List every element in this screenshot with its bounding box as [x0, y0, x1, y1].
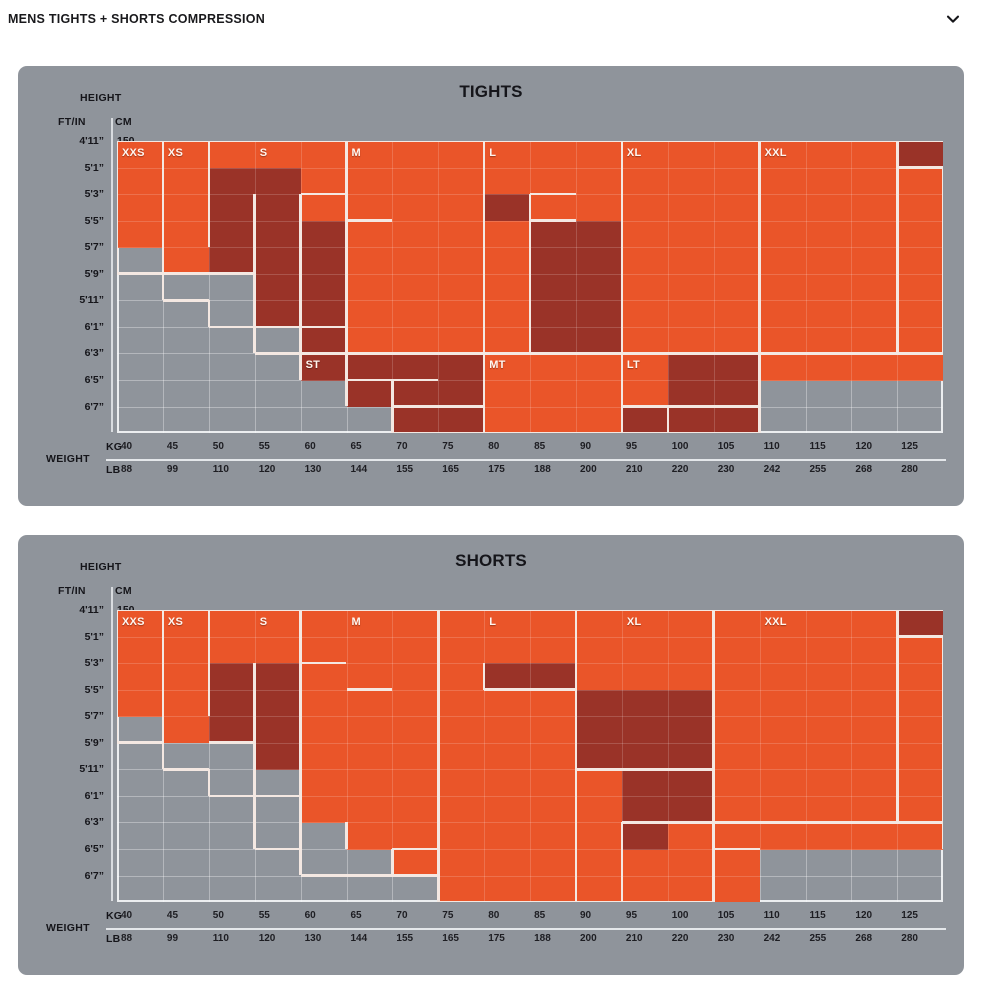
size-cell-regular — [760, 637, 807, 664]
region-outline — [437, 610, 440, 902]
size-grid-tights: XXSXSSMLXLXXLSTMTLT — [117, 141, 943, 433]
region-outline — [621, 141, 624, 353]
weight-kg-value: 120 — [855, 441, 872, 452]
size-cell-tall — [255, 274, 302, 301]
size-cell-regular — [530, 194, 577, 221]
size-cell-regular — [851, 300, 898, 327]
size-cell-regular — [714, 690, 761, 717]
weight-kg-value: 70 — [396, 910, 407, 921]
size-cell-regular — [576, 822, 623, 849]
size-cell-regular — [851, 353, 898, 380]
size-cell-regular — [117, 637, 164, 664]
size-cell-tall — [622, 743, 669, 770]
region-outline — [117, 610, 118, 743]
size-cell-regular — [530, 716, 577, 743]
region-outline — [301, 326, 347, 329]
gridline-horizontal-overlay — [117, 637, 943, 638]
weight-kg-value: 95 — [626, 441, 637, 452]
region-outline — [392, 848, 438, 851]
size-cell-tall — [209, 194, 256, 221]
lb-row-header: LB — [106, 933, 120, 945]
weight-lb-value: 255 — [810, 933, 827, 944]
region-outline — [345, 822, 348, 849]
height-ftin-label: 6'5” — [18, 367, 104, 393]
weight-lb-value: 110 — [213, 464, 229, 475]
region-outline — [758, 353, 761, 433]
region-outline — [622, 432, 760, 433]
height-ftin-label: 6'3” — [18, 809, 104, 835]
region-outline — [622, 821, 714, 824]
region-outline — [896, 610, 899, 637]
weight-lb-value: 120 — [259, 933, 276, 944]
size-cell-regular — [760, 796, 807, 823]
weight-lb-value: 200 — [580, 464, 597, 475]
size-cell-regular — [530, 743, 577, 770]
size-cell-regular — [851, 663, 898, 690]
size-cell-tall — [668, 716, 715, 743]
size-cell-regular — [806, 690, 853, 717]
region-outline — [942, 637, 943, 849]
gridline-horizontal-overlay — [117, 168, 943, 169]
weight-lb-value: 165 — [442, 464, 459, 475]
size-cell-regular — [897, 716, 943, 743]
size-cell-regular — [392, 690, 439, 717]
weight-kg-value: 55 — [259, 910, 270, 921]
gridline-horizontal-overlay — [117, 849, 943, 850]
size-cell-regular — [806, 769, 853, 796]
weight-kg-value: 40 — [121, 910, 132, 921]
weight-kg-value: 100 — [672, 910, 689, 921]
size-cell-regular — [714, 221, 761, 248]
size-cell-regular — [714, 194, 761, 221]
size-cell-regular — [806, 274, 853, 301]
size-cell-regular — [209, 610, 256, 637]
size-cell-regular — [438, 690, 485, 717]
region-outline — [896, 637, 899, 823]
weight-kg-value: 120 — [855, 910, 872, 921]
weight-lb-value: 230 — [718, 933, 735, 944]
size-cell-regular — [622, 380, 669, 407]
size-cell-regular — [438, 876, 485, 903]
size-cell-regular — [806, 796, 853, 823]
size-cell-regular — [851, 716, 898, 743]
kg-row-header: KG — [106, 910, 122, 922]
size-label-st: ST — [306, 359, 321, 371]
accordion-header[interactable]: MENS TIGHTS + SHORTS COMPRESSION — [0, 0, 982, 38]
size-cell-regular — [484, 769, 531, 796]
region-outline — [897, 635, 943, 638]
size-label-mt: MT — [489, 359, 505, 371]
size-cell-tall — [530, 274, 577, 301]
size-cell-regular — [301, 194, 348, 221]
size-cell-regular — [806, 247, 853, 274]
size-cell-regular — [897, 300, 943, 327]
weight-kg-value: 90 — [580, 910, 591, 921]
gridline-vertical-overlay — [806, 610, 807, 902]
height-ftin-label: 5'5” — [18, 208, 104, 234]
size-cell-regular — [484, 221, 531, 248]
size-cell-regular — [392, 663, 439, 690]
size-cell-regular — [851, 796, 898, 823]
size-cell-regular — [484, 247, 531, 274]
weight-lb-value: 175 — [488, 464, 505, 475]
size-cell-regular — [806, 353, 853, 380]
size-cell-regular — [714, 743, 761, 770]
region-outline — [253, 194, 256, 327]
weight-kg-value: 85 — [534, 441, 545, 452]
region-outline — [437, 876, 440, 903]
size-cell-regular — [668, 274, 715, 301]
weight-lb-value: 155 — [396, 933, 413, 944]
height-ftin-label: 5'3” — [18, 650, 104, 676]
height-ftin-label: 5'9” — [18, 261, 104, 287]
weight-kg-value: 85 — [534, 910, 545, 921]
size-cell-regular — [897, 194, 943, 221]
region-outline — [208, 610, 211, 716]
region-outline — [299, 194, 302, 353]
size-cell-regular — [714, 274, 761, 301]
size-cell-regular — [484, 327, 531, 354]
height-axis-divider — [111, 587, 113, 901]
size-cell-regular — [438, 769, 485, 796]
size-cell-tall — [484, 194, 531, 221]
region-outline — [529, 194, 532, 353]
size-cell-regular — [301, 716, 348, 743]
size-cell-tall — [255, 247, 302, 274]
size-cell-tall — [484, 663, 531, 690]
size-cell-regular — [163, 247, 210, 274]
size-cell-regular — [576, 849, 623, 876]
gridline-horizontal-overlay — [117, 663, 943, 664]
weight-lb-value: 130 — [305, 464, 322, 475]
size-cell-tall — [576, 300, 623, 327]
region-outline — [117, 141, 943, 142]
size-cell-tall — [209, 663, 256, 690]
region-outline — [209, 741, 255, 744]
region-outline — [575, 663, 578, 822]
size-cell-regular — [392, 141, 439, 168]
size-cell-regular — [347, 221, 394, 248]
size-cell-regular — [347, 769, 394, 796]
chevron-down-icon[interactable] — [942, 8, 964, 30]
region-outline — [345, 353, 348, 406]
weight-kg-value: 110 — [764, 910, 780, 921]
size-cell-regular — [392, 849, 439, 876]
size-cell-regular — [897, 637, 943, 664]
size-cell-regular — [576, 663, 623, 690]
size-cell-regular — [897, 769, 943, 796]
size-cell-tall — [576, 247, 623, 274]
size-cell-regular — [392, 247, 439, 274]
size-cell-regular — [484, 380, 531, 407]
size-cell-regular — [668, 247, 715, 274]
size-cell-regular — [438, 743, 485, 770]
size-label-lt: LT — [627, 359, 640, 371]
size-cell-regular — [760, 221, 807, 248]
region-outline — [117, 272, 163, 275]
size-cell-regular — [714, 610, 761, 637]
weight-kg-value: 115 — [810, 910, 826, 921]
size-cell-regular — [438, 327, 485, 354]
size-cell-regular — [806, 221, 853, 248]
height-ftin-label: 5'7” — [18, 703, 104, 729]
size-cell-regular — [622, 849, 669, 876]
size-cell-tall — [255, 168, 302, 195]
size-cell-tall — [714, 353, 761, 380]
size-cell-regular — [438, 822, 485, 849]
size-cell-tall — [301, 327, 348, 354]
size-cell-tall — [530, 663, 577, 690]
size-cell-regular — [484, 743, 531, 770]
region-outline — [622, 405, 760, 408]
size-cell-tall — [576, 274, 623, 301]
weight-kg-value: 115 — [810, 441, 826, 452]
size-cell-regular — [392, 637, 439, 664]
size-cell-tall — [622, 822, 669, 849]
size-cell-regular — [714, 663, 761, 690]
ftin-column-header: FT/IN — [58, 116, 86, 128]
size-cell-tall — [530, 247, 577, 274]
weight-lb-value: 175 — [488, 933, 505, 944]
size-cell-regular — [484, 300, 531, 327]
size-cell-regular — [806, 637, 853, 664]
region-outline — [530, 193, 576, 196]
size-cell-regular — [622, 876, 669, 903]
height-ftin-label: 5'9” — [18, 730, 104, 756]
region-outline — [392, 432, 484, 433]
size-cell-regular — [668, 327, 715, 354]
size-cell-regular — [484, 849, 531, 876]
weight-lb-value: 210 — [626, 933, 643, 944]
region-outline — [621, 822, 624, 902]
size-cell-tall — [622, 796, 669, 823]
size-cell-regular — [530, 876, 577, 903]
gridline-vertical-overlay — [530, 610, 531, 902]
size-label-xl: XL — [627, 616, 642, 628]
size-cell-regular — [714, 327, 761, 354]
size-cell-regular — [897, 274, 943, 301]
region-outline — [299, 610, 302, 849]
size-cell-tall — [576, 221, 623, 248]
size-cell-regular — [438, 610, 485, 637]
size-cell-regular — [301, 769, 348, 796]
size-cell-regular — [392, 274, 439, 301]
size-cell-tall — [392, 353, 439, 380]
region-outline — [208, 141, 211, 247]
weight-lb-value: 120 — [259, 464, 276, 475]
weight-lb-value: 220 — [672, 464, 689, 475]
size-cell-tall — [255, 663, 302, 690]
size-cell-regular — [392, 194, 439, 221]
size-cell-tall — [255, 690, 302, 717]
region-outline — [483, 353, 486, 433]
size-cell-regular — [347, 300, 394, 327]
size-cell-regular — [622, 663, 669, 690]
size-cell-tall — [897, 610, 943, 637]
size-cell-regular — [530, 141, 577, 168]
size-cell-regular — [347, 690, 394, 717]
size-cell-regular — [209, 637, 256, 664]
region-outline — [347, 219, 393, 222]
size-cell-regular — [484, 716, 531, 743]
weight-lb-value: 242 — [764, 464, 781, 475]
size-cell-regular — [163, 663, 210, 690]
gridline-vertical-overlay — [760, 610, 761, 902]
size-cell-regular — [622, 300, 669, 327]
height-ftin-label: 5'3” — [18, 181, 104, 207]
size-cell-tall — [576, 716, 623, 743]
size-cell-regular — [347, 637, 394, 664]
size-cell-regular — [530, 168, 577, 195]
size-cell-regular — [806, 743, 853, 770]
size-cell-regular — [714, 716, 761, 743]
size-cell-regular — [438, 194, 485, 221]
weight-lb-value: 280 — [901, 933, 918, 944]
region-outline — [483, 141, 486, 353]
size-cell-tall — [209, 247, 256, 274]
region-outline — [117, 741, 163, 744]
region-outline — [253, 663, 256, 849]
region-outline — [162, 610, 165, 769]
weight-lb-value: 255 — [810, 464, 827, 475]
size-cell-regular — [714, 796, 761, 823]
height-ftin-label: 5'1” — [18, 155, 104, 181]
size-cell-regular — [530, 690, 577, 717]
size-cell-regular — [117, 168, 164, 195]
gridline-vertical-overlay — [668, 141, 669, 433]
region-outline — [896, 168, 899, 354]
region-outline — [714, 821, 944, 824]
size-cell-regular — [117, 221, 164, 248]
size-grid-shorts: XXSXSSMLXLXXL — [117, 610, 943, 902]
size-chart-panel-shorts: SHORTSHEIGHTFT/INCM4'11”1505'1”1555'3”16… — [18, 535, 964, 975]
size-cell-tall — [668, 380, 715, 407]
size-cell-regular — [622, 247, 669, 274]
size-cell-tall — [301, 274, 348, 301]
size-cell-regular — [347, 194, 394, 221]
gridline-vertical-overlay — [576, 141, 577, 433]
size-cell-tall — [668, 796, 715, 823]
ftin-column-header: FT/IN — [58, 585, 86, 597]
size-cell-regular — [576, 380, 623, 407]
height-ftin-label: 5'11” — [18, 287, 104, 313]
size-label-s: S — [260, 616, 268, 628]
size-cell-regular — [714, 849, 761, 876]
size-cell-regular — [760, 743, 807, 770]
region-outline — [117, 141, 118, 274]
size-cell-regular — [714, 168, 761, 195]
chart-title-tights: TIGHTS — [18, 82, 964, 102]
size-cell-tall — [622, 769, 669, 796]
size-cell-regular — [484, 876, 531, 903]
height-axis-label: HEIGHT — [80, 561, 122, 573]
region-outline — [712, 822, 715, 902]
size-cell-regular — [760, 822, 807, 849]
size-cell-regular — [714, 300, 761, 327]
kg-row-header: KG — [106, 441, 122, 453]
size-cell-regular — [117, 663, 164, 690]
size-cell-regular — [484, 690, 531, 717]
region-outline — [760, 352, 944, 355]
size-cell-regular — [622, 194, 669, 221]
size-cell-regular — [347, 743, 394, 770]
height-axis-divider — [111, 118, 113, 432]
height-ftin-label: 6'5” — [18, 836, 104, 862]
size-cell-regular — [851, 637, 898, 664]
size-cell-tall — [530, 221, 577, 248]
size-cell-regular — [622, 274, 669, 301]
size-cell-regular — [668, 610, 715, 637]
size-cell-tall — [392, 407, 439, 434]
weight-lb-value: 88 — [121, 933, 132, 944]
size-cell-regular — [897, 221, 943, 248]
gridline-vertical-overlay — [851, 610, 852, 902]
size-cell-regular — [301, 690, 348, 717]
weight-lb-value: 188 — [534, 464, 551, 475]
size-cell-regular — [668, 637, 715, 664]
region-outline — [391, 849, 394, 876]
region-outline — [299, 353, 302, 380]
region-outline — [301, 874, 439, 877]
size-cell-regular — [668, 194, 715, 221]
weight-kg-value: 50 — [213, 441, 224, 452]
size-cell-regular — [301, 796, 348, 823]
region-outline — [622, 768, 714, 771]
size-cell-tall — [209, 716, 256, 743]
size-cell-tall — [714, 407, 761, 434]
size-cell-regular — [163, 690, 210, 717]
size-cell-regular — [760, 168, 807, 195]
size-cell-regular — [301, 743, 348, 770]
weight-kg-value: 80 — [488, 441, 499, 452]
size-cell-tall — [576, 743, 623, 770]
region-outline — [897, 166, 943, 169]
weight-kg-value: 95 — [626, 910, 637, 921]
size-cell-regular — [806, 716, 853, 743]
size-cell-regular — [897, 822, 943, 849]
size-cell-regular — [301, 168, 348, 195]
region-outline — [392, 405, 484, 408]
size-cell-regular — [392, 769, 439, 796]
size-cell-regular — [530, 353, 577, 380]
size-cell-regular — [117, 690, 164, 717]
size-cell-regular — [392, 168, 439, 195]
size-cell-tall — [668, 743, 715, 770]
size-cell-regular — [806, 610, 853, 637]
size-cell-regular — [714, 822, 761, 849]
size-cell-regular — [163, 221, 210, 248]
size-cell-regular — [897, 353, 943, 380]
size-cell-tall — [668, 353, 715, 380]
size-label-m: M — [352, 147, 361, 159]
weight-kg-value: 50 — [213, 910, 224, 921]
weight-axis-rule — [106, 459, 946, 461]
weight-lb-value: 144 — [351, 933, 368, 944]
size-cell-regular — [484, 796, 531, 823]
size-cell-regular — [851, 221, 898, 248]
size-cell-regular — [392, 796, 439, 823]
size-cell-regular — [576, 141, 623, 168]
size-label-m: M — [352, 616, 361, 628]
region-outline — [163, 272, 209, 275]
size-cell-tall — [209, 221, 256, 248]
weight-lb-value: 130 — [305, 933, 322, 944]
gridline-vertical-overlay — [851, 141, 852, 433]
size-cell-regular — [897, 327, 943, 354]
size-cell-regular — [347, 274, 394, 301]
size-cell-regular — [851, 610, 898, 637]
weight-kg-value: 125 — [901, 910, 918, 921]
